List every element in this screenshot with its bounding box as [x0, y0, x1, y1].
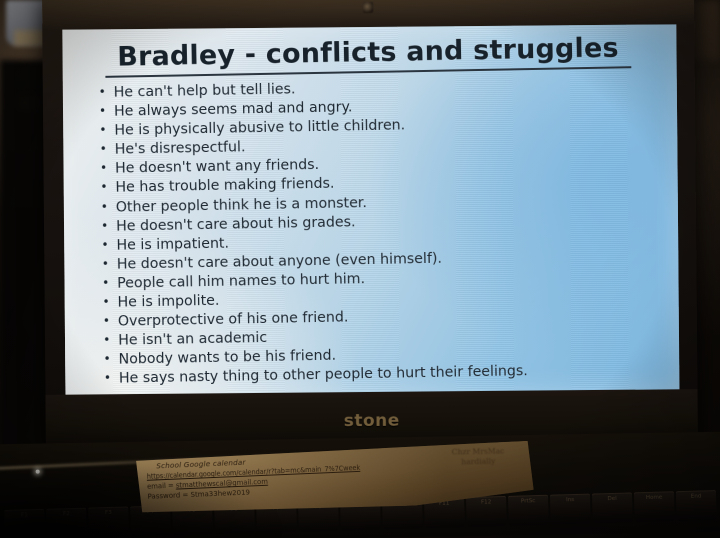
- key-del[interactable]: Del: [592, 492, 633, 523]
- slide-content: Bradley - conflicts and struggles He can…: [62, 24, 679, 395]
- key-label: F12: [481, 499, 492, 505]
- webcam-icon: [363, 2, 373, 13]
- key-ins[interactable]: Ins: [550, 494, 591, 525]
- laptop-screen: Bradley - conflicts and struggles He can…: [62, 24, 679, 395]
- key-home[interactable]: Home: [634, 491, 675, 522]
- note-handwriting-line-2: hardially: [430, 456, 526, 468]
- key-f12[interactable]: F12: [466, 496, 507, 527]
- laptop-lid: Bradley - conflicts and struggles He can…: [42, 0, 698, 453]
- slide-bullet-list: He can't help but tell lies. He always s…: [62, 73, 679, 390]
- key-label: End: [691, 493, 702, 499]
- key-label: PrtSc: [521, 498, 536, 504]
- key-label: Home: [646, 495, 663, 501]
- key-label: Ins: [566, 497, 574, 503]
- foreground-shadow: [0, 458, 280, 538]
- key-label: Del: [607, 496, 616, 502]
- note-handwriting: Chzr MrsMac hardially: [430, 446, 526, 468]
- photo-scene: Bradley - conflicts and struggles He can…: [0, 0, 720, 538]
- slide-title: Bradley - conflicts and struggles: [105, 28, 632, 78]
- key-prtsc[interactable]: PrtSc: [508, 495, 549, 526]
- key-end[interactable]: End: [676, 490, 717, 521]
- brand-logo: stone: [344, 411, 400, 431]
